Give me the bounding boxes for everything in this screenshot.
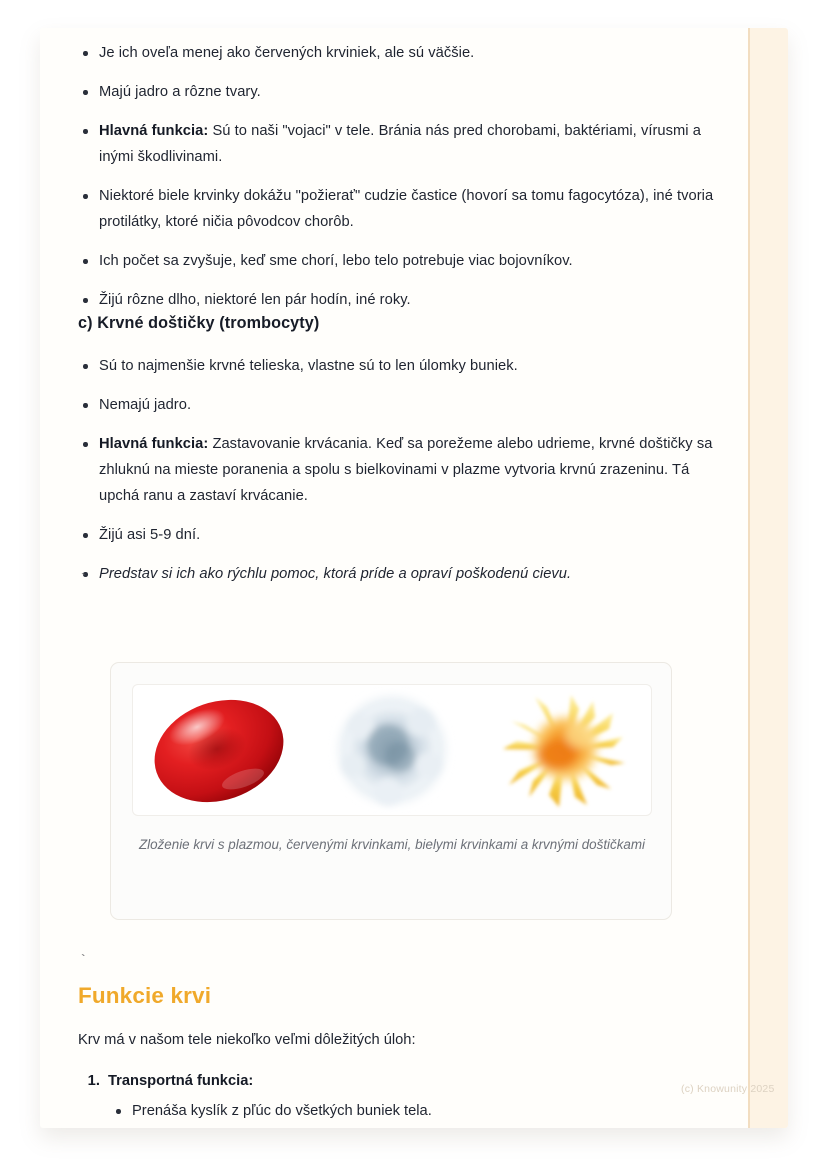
figure-image-area — [132, 684, 652, 816]
document-sheet: Je ich oveľa menej ako červených krvinie… — [40, 28, 788, 1128]
list-item: Je ich oveľa menej ako červených krvinie… — [69, 40, 719, 66]
white-blood-cell-icon — [317, 690, 467, 810]
platelets-section: Sú to najmenšie krvné telieska, vlastne … — [69, 353, 719, 600]
list-item: Žijú rôzne dlho, niektoré len pár hodín,… — [69, 287, 719, 313]
bullet-text: Žijú asi 5-9 dní. — [99, 527, 200, 543]
code-tick-mark-one: ` — [79, 573, 729, 587]
functions-numbered-section: Transportná funkcia: Prenáša kyslík z pľ… — [78, 1068, 728, 1124]
bullet-text: Nemajú jadro. — [99, 397, 191, 413]
bullet-text: Majú jadro a rôzne tvary. — [99, 84, 261, 100]
bullet-text: Ich počet sa zvyšuje, keď sme chorí, leb… — [99, 253, 573, 269]
platelets-heading-wrap: c) Krvné doštičky (trombocyty) — [78, 311, 728, 335]
bullet-lead: Hlavná funkcia: — [99, 436, 208, 452]
bullet-text: Je ich oveľa menej ako červených krvinie… — [99, 45, 474, 61]
bullet-text: Žijú rôzne dlho, niektoré len pár hodín,… — [99, 292, 411, 308]
page-title: Funkcie krvi — [78, 982, 728, 1010]
blood-composition-figure: Zloženie krvi s plazmou, červenými krvin… — [110, 662, 672, 920]
white-cells-section: Je ich oveľa menej ako červených krvinie… — [69, 40, 719, 326]
functions-lead-paragraph: Krv má v našom tele niekoľko veľmi dôlež… — [78, 1028, 728, 1052]
figure-caption: Zloženie krvi s plazmou, červenými krvin… — [133, 833, 651, 856]
list-item: Niektoré biele krvinky dokážu "požierať"… — [69, 183, 719, 235]
code-tick-mark-two: ` — [79, 954, 729, 968]
platelets-heading: c) Krvné doštičky (trombocyty) — [78, 311, 728, 335]
list-item: Hlavná funkcia: Zastavovanie krvácania. … — [69, 431, 719, 509]
list-item: Nemajú jadro. — [69, 392, 719, 418]
list-item: Hlavná funkcia: Sú to naši "vojaci" v te… — [69, 118, 719, 170]
functions-sub-list: Prenáša kyslík z pľúc do všetkých buniek… — [108, 1098, 728, 1124]
list-item: Ich počet sa zvyšuje, keď sme chorí, leb… — [69, 248, 719, 274]
watermark-label: (c) Knowunity 2025 — [681, 1083, 774, 1095]
white-cells-bullet-list: Je ich oveľa menej ako červených krvinie… — [69, 40, 719, 313]
page-root: Je ich oveľa menej ako červených krvinie… — [0, 0, 828, 1171]
bullet-lead: Hlavná funkcia: — [99, 123, 208, 139]
list-item: Prenáša kyslík z pľúc do všetkých buniek… — [108, 1098, 728, 1124]
bullet-text: Prenáša kyslík z pľúc do všetkých buniek… — [132, 1103, 432, 1119]
right-margin-strip — [750, 28, 788, 1128]
document-content: Je ich oveľa menej ako červených krvinie… — [40, 28, 750, 1128]
bullet-text: Niektoré biele krvinky dokážu "požierať"… — [99, 188, 713, 230]
platelet-cell-icon — [490, 690, 640, 810]
red-blood-cell-svg — [145, 691, 293, 809]
ordered-item-title: Transportná funkcia: — [108, 1073, 253, 1089]
functions-ordered-list: Transportná funkcia: Prenáša kyslík z pľ… — [78, 1068, 728, 1124]
bullet-text: Sú to najmenšie krvné telieska, vlastne … — [99, 358, 518, 374]
list-item: Transportná funkcia: Prenáša kyslík z pľ… — [104, 1068, 728, 1124]
platelet-svg — [501, 687, 629, 813]
list-item: Žijú asi 5-9 dní. — [69, 522, 719, 548]
white-blood-cell-svg — [328, 687, 456, 813]
functions-heading-wrap: Funkcie krvi — [78, 982, 728, 1010]
functions-lead-wrap: Krv má v našom tele niekoľko veľmi dôlež… — [78, 1028, 728, 1052]
red-blood-cell-icon — [144, 690, 294, 810]
list-item: Sú to najmenšie krvné telieska, vlastne … — [69, 353, 719, 379]
platelets-bullet-list: Sú to najmenšie krvné telieska, vlastne … — [69, 353, 719, 587]
list-item: Majú jadro a rôzne tvary. — [69, 79, 719, 105]
